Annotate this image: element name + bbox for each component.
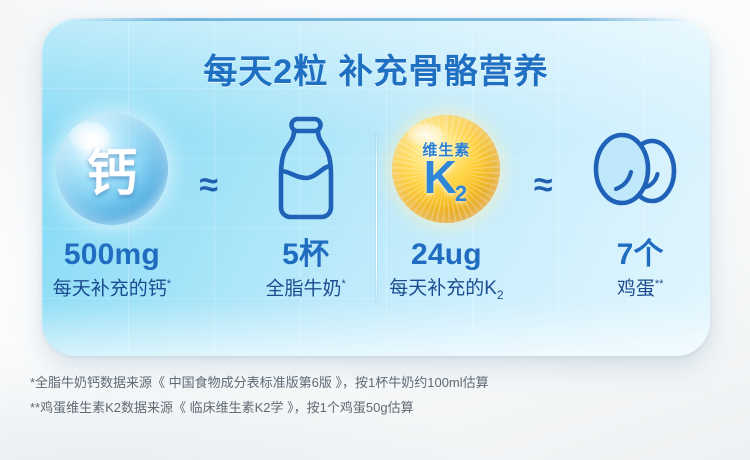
comparison-row: 钙 500mg 每天补充的钙* ≈	[42, 110, 710, 325]
milk-icon-wrap	[269, 110, 343, 228]
column-calcium-source: 钙 500mg 每天补充的钙*	[42, 110, 182, 325]
calcium-caption: 每天补充的钙*	[53, 279, 171, 298]
eggs-caption: 鸡蛋**	[617, 279, 664, 298]
footnotes: *全脂牛奶钙数据来源《 中国食物成分表标准版第6版 》，按1杯牛奶约100ml估…	[30, 370, 489, 420]
promo-banner: 每天2粒 补充骨骼营养 钙 500mg 每天补充的钙* ≈	[0, 0, 750, 460]
k2-letter-sub: 2	[455, 181, 467, 206]
milk-caption: 全脂牛奶*	[265, 279, 345, 298]
milk-caption-text: 全脂牛奶	[265, 278, 341, 299]
column-eggs-equivalent: 7个 鸡蛋**	[570, 110, 710, 325]
k2-caption-text: 每天补充的K	[389, 278, 497, 299]
operator-approx-2: ≈	[516, 110, 570, 325]
k2-icon-wrap: 维生素 K2	[392, 110, 500, 228]
k2-letter-main: K	[424, 151, 457, 203]
column-k2-source: 维生素 K2 24ug 每天补充的K2	[377, 110, 517, 325]
calcium-icon-wrap: 钙	[56, 110, 168, 228]
k2-caption: 每天补充的K2	[389, 279, 503, 301]
k2-letter: K2	[424, 156, 469, 200]
calcium-amount: 500mg	[64, 240, 160, 270]
vitamin-k2-sphere-icon: 维生素 K2	[392, 115, 500, 223]
eggs-icon	[586, 123, 694, 215]
eggs-icon-wrap	[586, 110, 694, 228]
footnote-1: *全脂牛奶钙数据来源《 中国食物成分表标准版第6版 》，按1杯牛奶约100ml估…	[30, 370, 489, 395]
milk-bottle-icon	[269, 115, 343, 223]
eggs-caption-mark: **	[655, 278, 664, 290]
column-milk-equivalent: 5杯 全脂牛奶*	[236, 110, 376, 325]
operator-approx-1: ≈	[182, 110, 236, 325]
eggs-caption-text: 鸡蛋	[617, 278, 655, 299]
k2-caption-sub: 2	[497, 288, 504, 302]
eggs-amount: 7个	[617, 240, 664, 270]
calcium-caption-mark: *	[167, 278, 171, 290]
milk-amount: 5杯	[282, 240, 329, 270]
calcium-sphere-icon: 钙	[56, 113, 168, 225]
footnote-2: **鸡蛋维生素K2数据来源《 临床维生素K2学 》，按1个鸡蛋50g估算	[30, 395, 489, 420]
milk-caption-mark: *	[341, 278, 345, 290]
calcium-glyph: 钙	[87, 133, 137, 205]
info-card: 每天2粒 补充骨骼营养 钙 500mg 每天补充的钙* ≈	[42, 18, 710, 356]
calcium-caption-text: 每天补充的钙	[53, 278, 167, 299]
page-title: 每天2粒 补充骨骼营养	[42, 44, 710, 93]
k2-amount: 24ug	[411, 240, 482, 270]
card-top-rim	[60, 18, 692, 21]
